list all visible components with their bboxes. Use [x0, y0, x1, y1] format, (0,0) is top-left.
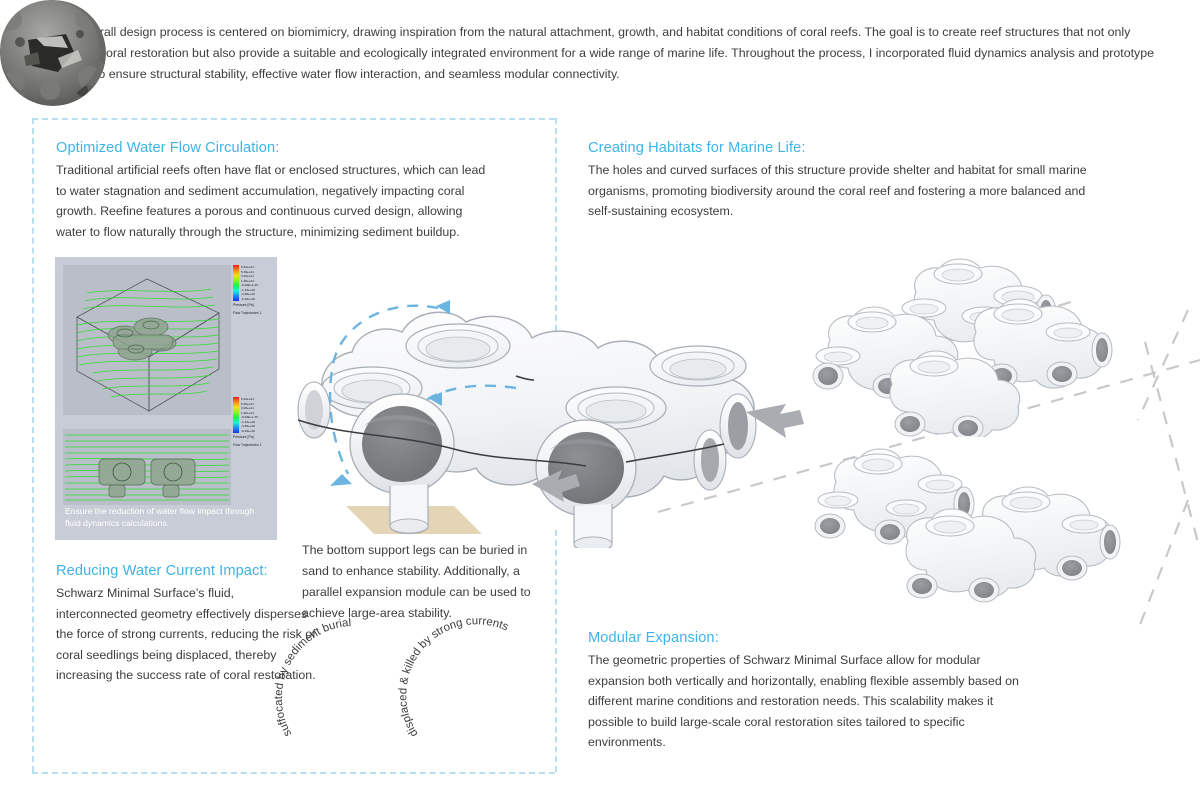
cfd-side-view [63, 429, 231, 505]
blue-dashed-border-left [32, 118, 34, 772]
expansion-cluster [813, 259, 1112, 437]
legend-values: 6.63e+01 5.39e+01 3.93e+01 1.48e+01 -9.9… [233, 397, 273, 433]
block-body: Schwarz Minimal Surface’s fluid, interco… [56, 583, 316, 686]
block-heading: Modular Expansion: [588, 630, 1028, 646]
block-optimized-water-flow: Optimized Water Flow Circulation: Tradit… [56, 140, 496, 242]
legend-unit: Pressure [Pa] [233, 301, 273, 309]
expansion-cluster [815, 449, 1120, 602]
blue-dashed-border-top [32, 118, 555, 120]
legend-values: 6.63e+01 5.39e+01 3.93e+01 1.48e+01 -9.9… [233, 265, 273, 301]
block-body: The holes and curved surfaces of this st… [588, 160, 1108, 222]
legend-unit: Pressure [Pa] [233, 433, 273, 441]
legend-title: Flow Trajectories 1 [233, 441, 273, 449]
block-heading: Optimized Water Flow Circulation: [56, 140, 496, 156]
photo-strong-currents-wrap: displaced & killed by strong currents [0, 0, 100, 100]
cfd-legend-top: 6.63e+01 5.39e+01 3.93e+01 1.48e+01 -9.9… [233, 265, 273, 316]
block-creating-habitats: Creating Habitats for Marine Life: The h… [588, 140, 1108, 222]
cfd-simulation-panel: 6.63e+01 5.39e+01 3.93e+01 1.48e+01 -9.9… [55, 257, 277, 540]
legend-color-bar [233, 397, 239, 433]
block-modular-expansion: Modular Expansion: The geometric propert… [588, 630, 1028, 753]
blue-dashed-border-bottom [32, 772, 555, 774]
block-body: The bottom support legs can be buried in… [302, 540, 552, 624]
photo-b-arc-caption: displaced & killed by strong currents [412, 630, 562, 770]
cfd-legend-bottom: 6.63e+01 5.39e+01 3.93e+01 1.48e+01 -9.9… [233, 397, 273, 448]
cfd-caption: Ensure the reduction of water flow impac… [65, 505, 265, 529]
photo-b-caption-text: displaced & killed by strong currents [397, 615, 510, 739]
main-module-render [286, 248, 846, 548]
block-body: Traditional artificial reefs often have … [56, 160, 496, 242]
block-body: The geometric properties of Schwarz Mini… [588, 650, 1028, 753]
photo-strong-currents [0, 0, 100, 100]
poster-canvas: The overall design process is centered o… [0, 0, 1200, 800]
block-reducing-current-impact: Reducing Water Current Impact: Schwarz M… [56, 563, 316, 686]
block-heading: Creating Habitats for Marine Life: [588, 140, 1108, 156]
block-heading: Reducing Water Current Impact: [56, 563, 316, 579]
legend-title: Flow Trajectories 1 [233, 309, 273, 317]
expansion-array-top [806, 252, 1196, 437]
block-support-legs-note: The bottom support legs can be buried in… [302, 540, 552, 624]
expansion-array-bottom [806, 432, 1196, 622]
intro-paragraph: The overall design process is centered o… [55, 22, 1155, 85]
cfd-isometric-view [63, 265, 231, 415]
legend-color-bar [233, 265, 239, 301]
